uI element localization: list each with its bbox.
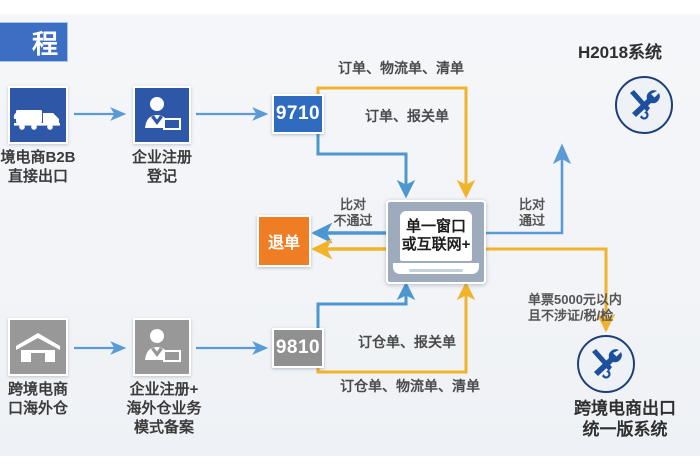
wire-9710-blue-to-hub xyxy=(318,134,406,196)
enterprise-register-icon xyxy=(135,88,189,142)
node-truck-caption: 境电商B2B 直接出口 xyxy=(0,148,94,186)
tools-circle-icon xyxy=(586,344,626,384)
page-title-text: 程 xyxy=(32,24,59,61)
hub-line2: 或互联网+ xyxy=(402,236,471,254)
label-9710-upper: 订单、物流单、清单 xyxy=(306,60,496,77)
diagram-canvas: 程 境电商B2B 直接出口 企业注册 登 xyxy=(0,0,700,470)
tools-circle-icon xyxy=(624,85,664,125)
label-compare-pass: 比对 通过 xyxy=(505,197,559,229)
laptop-lip xyxy=(409,269,463,272)
hub-screen: 单一窗口 或互联网+ xyxy=(400,211,472,261)
wire-9810-yellow-to-hub xyxy=(318,284,466,372)
label-threshold: 单票5000元以内 且不涉证/税/检 xyxy=(528,292,676,324)
label-9710-lower: 订单、报关单 xyxy=(332,108,482,125)
hub-line1: 单一窗口 xyxy=(406,218,466,236)
node-refund[interactable]: 退单 xyxy=(257,215,311,267)
node-top-register-tile[interactable] xyxy=(133,86,191,144)
truck-icon xyxy=(10,88,66,142)
node-bottom-register-caption: 企业注册+ 海外仓业务 模式备案 xyxy=(106,380,222,437)
refund-label: 退单 xyxy=(268,229,300,253)
wire-9710-yellow-to-hub xyxy=(318,88,466,196)
label-9810-lower: 订仓单、物流单、清单 xyxy=(300,378,520,395)
code-9710[interactable]: 9710 xyxy=(272,94,324,134)
node-warehouse-tile[interactable] xyxy=(8,318,68,376)
node-crossborder-system[interactable] xyxy=(577,335,635,393)
node-top-register-caption: 企业注册 登记 xyxy=(106,148,218,186)
node-h2018-system[interactable] xyxy=(615,76,673,134)
node-single-window-hub[interactable]: 单一窗口 或互联网+ xyxy=(386,200,486,284)
node-warehouse-caption: 跨境电商 口海外仓 xyxy=(0,380,94,418)
label-compare-fail: 比对 不通过 xyxy=(322,197,384,229)
wire-9810-blue-to-hub xyxy=(318,284,406,332)
warehouse-icon xyxy=(10,320,66,374)
node-bottom-register-tile[interactable] xyxy=(133,318,191,376)
code-9810[interactable]: 9810 xyxy=(272,328,324,368)
label-9810-upper: 订仓单、报关单 xyxy=(332,334,482,351)
system-title-h2018: H2018系统 xyxy=(540,42,700,63)
node-truck-tile[interactable] xyxy=(8,86,68,144)
enterprise-register-icon xyxy=(135,320,189,374)
system-title-crossborder: 跨境电商出口 统一版系统 xyxy=(536,398,700,440)
page-title: 程 xyxy=(0,22,68,62)
